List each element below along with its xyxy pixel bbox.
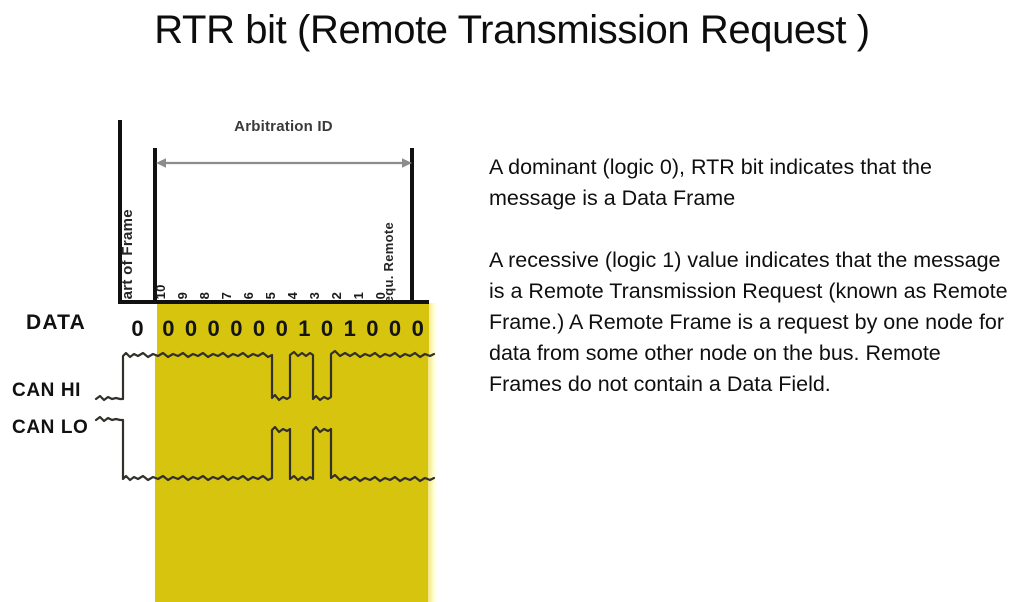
bit-cell: 0 bbox=[316, 316, 339, 342]
data-row-label: DATA bbox=[26, 311, 86, 335]
bit-cell: 0 bbox=[157, 316, 180, 342]
paragraph-dominant: A dominant (logic 0), RTR bit indicates … bbox=[489, 152, 1014, 214]
can-lo-trace bbox=[96, 417, 434, 481]
bit-cell: 1 bbox=[338, 316, 361, 342]
arbitration-id-label: Arbitration ID bbox=[157, 118, 410, 135]
paragraph-recessive: A recessive (logic 1) value indicates th… bbox=[489, 245, 1014, 400]
bit-cell: 0 bbox=[248, 316, 271, 342]
bit-cell: 0 bbox=[406, 316, 429, 342]
bit-cell: 0 bbox=[180, 316, 203, 342]
bit-cell: 0 bbox=[202, 316, 225, 342]
can-bus-waveform bbox=[90, 342, 440, 502]
can-frame-diagram: Arbitration ID Start of Frame ID10 ID9 I… bbox=[0, 110, 470, 507]
bit-cell: 0 bbox=[270, 316, 293, 342]
can-hi-trace bbox=[96, 351, 434, 400]
bit-cell: 0 bbox=[361, 316, 384, 342]
bit-cell: 1 bbox=[293, 316, 316, 342]
bit-cell: 0 bbox=[384, 316, 407, 342]
bit-cell: 0 bbox=[225, 316, 248, 342]
arbitration-span-arrow bbox=[155, 156, 413, 170]
page-title: RTR bit (Remote Transmission Request ) bbox=[0, 8, 1024, 53]
explanatory-text: A dominant (logic 0), RTR bit indicates … bbox=[489, 152, 1014, 400]
